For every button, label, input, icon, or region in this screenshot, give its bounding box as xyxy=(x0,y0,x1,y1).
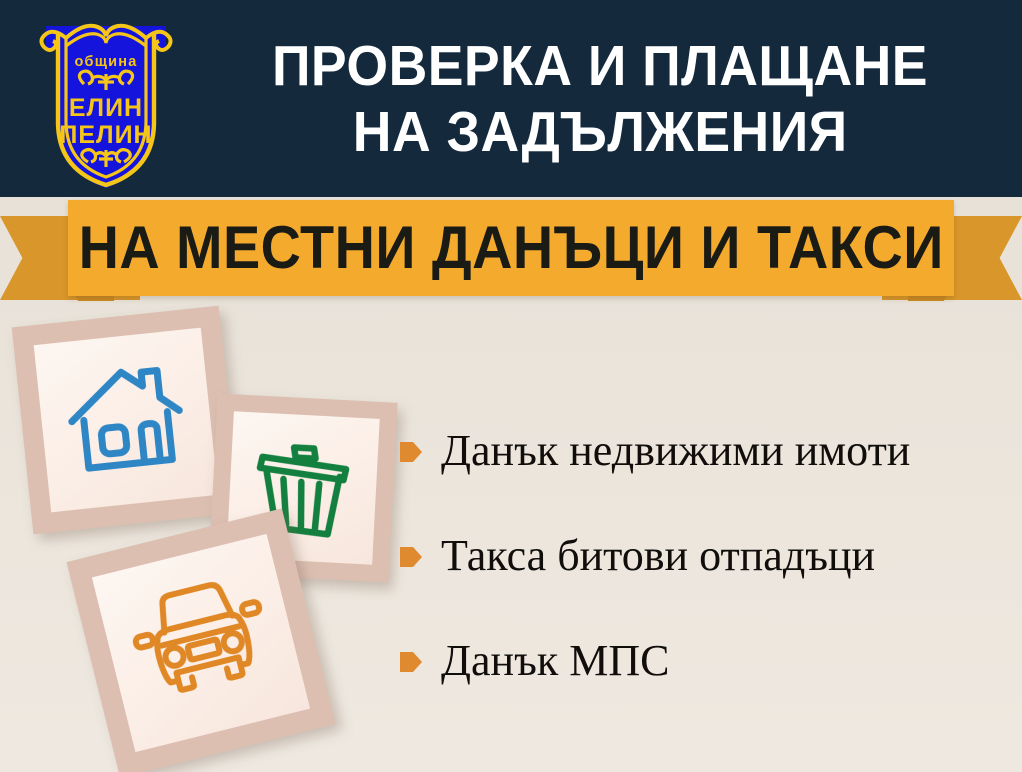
list-item[interactable]: Данък недвижими имоти xyxy=(400,424,1010,477)
list-item-label: Данък недвижими имоти xyxy=(441,427,910,475)
arrow-bullet-icon xyxy=(400,440,422,464)
title-line-2: НА ЗАДЪЛЖЕНИЯ xyxy=(353,99,848,165)
ribbon-label: НА МЕСТНИ ДАНЪЦИ И ТАКСИ xyxy=(78,218,943,278)
poster-canvas: община ЕЛИН ПЕЛИН xyxy=(0,0,1022,772)
svg-text:ПЕЛИН: ПЕЛИН xyxy=(59,121,152,149)
list-item[interactable]: Такса битови отпадъци xyxy=(400,529,1010,582)
poster-header: община ЕЛИН ПЕЛИН xyxy=(0,0,1022,197)
title-line-1: ПРОВЕРКА И ПЛАЩАНЕ xyxy=(272,33,928,99)
list-item[interactable]: Данък МПС xyxy=(400,634,1010,687)
list-item-label: Такса битови отпадъци xyxy=(441,532,875,580)
arrow-bullet-icon xyxy=(400,650,422,674)
subtitle-ribbon: НА МЕСТНИ ДАНЪЦИ И ТАКСИ xyxy=(0,198,1022,310)
svg-text:ЕЛИН: ЕЛИН xyxy=(69,94,143,122)
tax-type-list: Данък недвижими имоти Такса битови отпад… xyxy=(400,424,1010,739)
house-icon xyxy=(60,354,192,486)
municipality-logo: община ЕЛИН ПЕЛИН xyxy=(26,4,186,192)
list-item-label: Данък МПС xyxy=(441,637,669,685)
arrow-bullet-icon xyxy=(400,545,422,569)
ribbon-center: НА МЕСТНИ ДАНЪЦИ И ТАКСИ xyxy=(68,200,954,296)
svg-text:община: община xyxy=(75,54,138,70)
house-stamp xyxy=(12,306,241,535)
poster-title: ПРОВЕРКА И ПЛАЩАНЕ НА ЗАДЪЛЖЕНИЯ xyxy=(190,14,1010,184)
